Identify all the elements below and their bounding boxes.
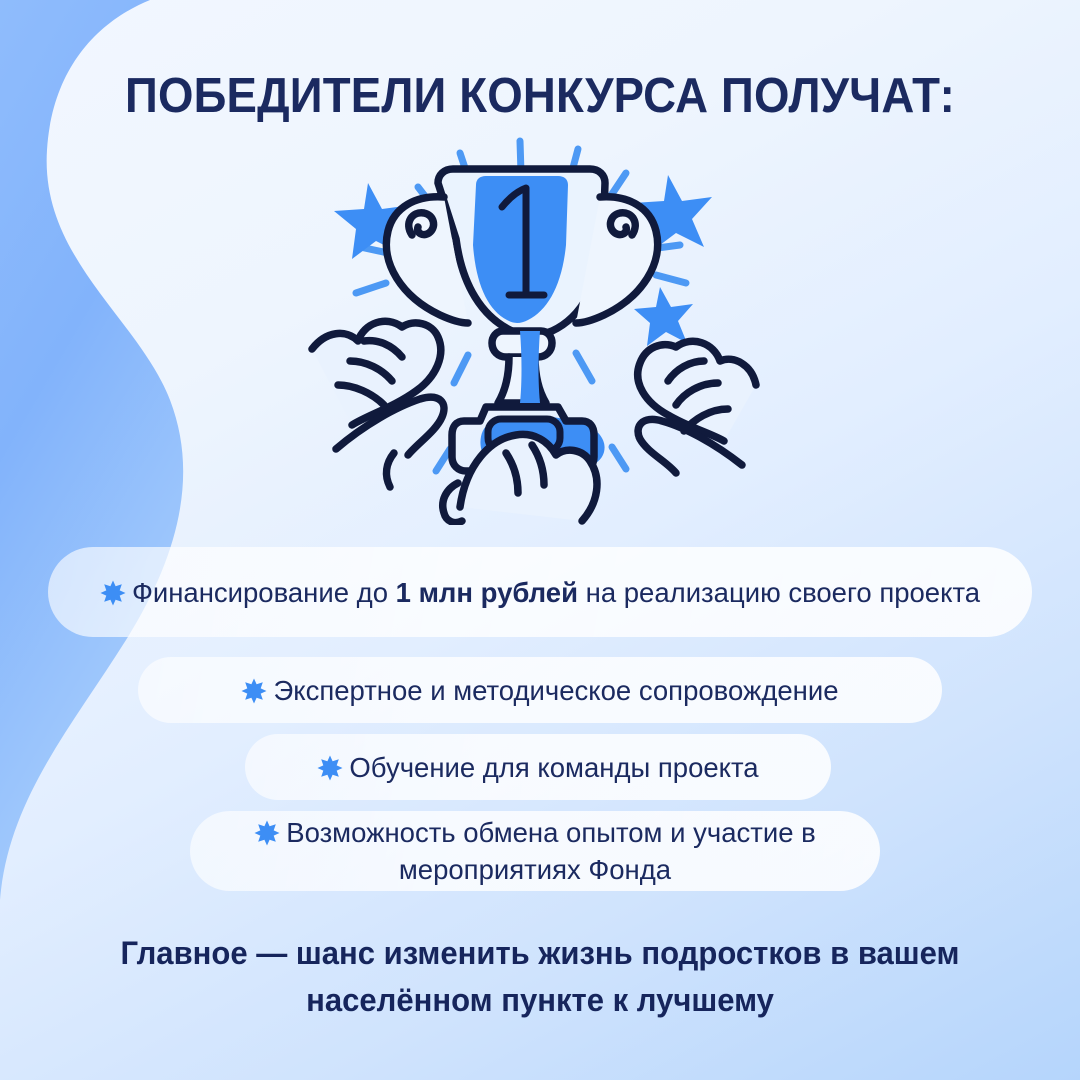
benefit-text-1-bold: 1 млн рублей [396,577,578,608]
benefit-pill-1: Финансирование до 1 млн рублей на реализ… [48,547,1032,637]
footer-line-2: населённом пункте к лучшему [74,977,1005,1024]
benefit-text-4: Возможность обмена опытом и участие в ме… [286,817,815,885]
trophy-illustration [290,135,790,525]
benefit-pill-3: Обучение для команды проекта [245,734,831,800]
benefit-pill-4: Возможность обмена опытом и участие в ме… [190,811,880,891]
flower-star-bullet-icon [241,678,267,704]
footer-line-1: Главное — шанс изменить жизнь подростков… [74,930,1005,977]
flower-star-bullet-icon [317,755,343,781]
benefit-text-1b: на реализацию своего проекта [578,577,980,608]
benefit-text-1a: Финансирование до [132,577,396,608]
flower-star-bullet-icon [254,820,280,846]
footer-message: Главное — шанс изменить жизнь подростков… [74,930,1005,1024]
benefit-text-3: Обучение для команды проекта [349,752,758,783]
flower-star-bullet-icon [100,580,126,606]
page-title: ПОБЕДИТЕЛИ КОНКУРСА ПОЛУЧАТ: [38,68,1042,124]
benefit-text-2: Экспертное и методическое сопровождение [273,675,838,706]
poster-canvas: ПОБЕДИТЕЛИ КОНКУРСА ПОЛУЧАТ: [0,0,1080,1080]
benefit-pill-2: Экспертное и методическое сопровождение [138,657,942,723]
